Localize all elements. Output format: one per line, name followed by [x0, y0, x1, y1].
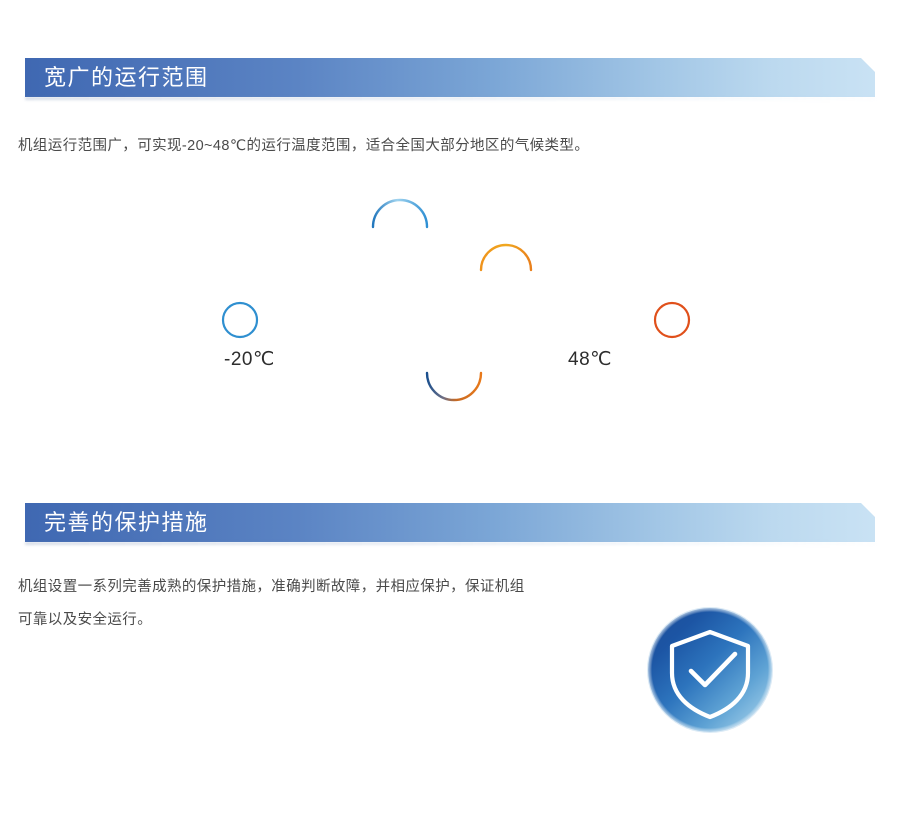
- badge-rim: [647, 607, 773, 733]
- path-segment-valley: [427, 373, 481, 400]
- section-banner: 宽广的运行范围: [25, 58, 875, 97]
- banner-title-protection-measures: 完善的保护措施: [25, 512, 209, 534]
- temperature-path-svg: [0, 185, 900, 415]
- banner-title-operating-range: 宽广的运行范围: [25, 67, 209, 89]
- paragraph-protection-line1: 机组设置一系列完善成熟的保护措施，准确判断故障，并相应保护，保证机组: [18, 571, 525, 604]
- section-protection-measures: 完善的保护措施: [0, 503, 900, 542]
- node-min-temperature: [223, 303, 257, 337]
- paragraph-operating-range: 机组运行范围广，可实现-20~48℃的运行温度范围，适合全国大部分地区的气候类型…: [18, 130, 589, 163]
- label-max-temperature: 48℃: [568, 348, 612, 371]
- banner-shadow: [25, 97, 875, 100]
- path-segment-hump-hot-top: [481, 245, 531, 270]
- section-operating-range: 宽广的运行范围: [0, 58, 900, 97]
- shield-check-icon: [645, 605, 775, 735]
- temperature-range-diagram: [0, 185, 900, 415]
- paragraph-protection-line2: 可靠以及安全运行。: [18, 604, 152, 637]
- banner-shadow: [25, 542, 875, 545]
- shield-badge: [645, 605, 775, 735]
- node-max-temperature: [655, 303, 689, 337]
- label-min-temperature: -20℃: [224, 348, 275, 371]
- path-segment-hump-cold-top: [373, 200, 427, 227]
- section-banner: 完善的保护措施: [25, 503, 875, 542]
